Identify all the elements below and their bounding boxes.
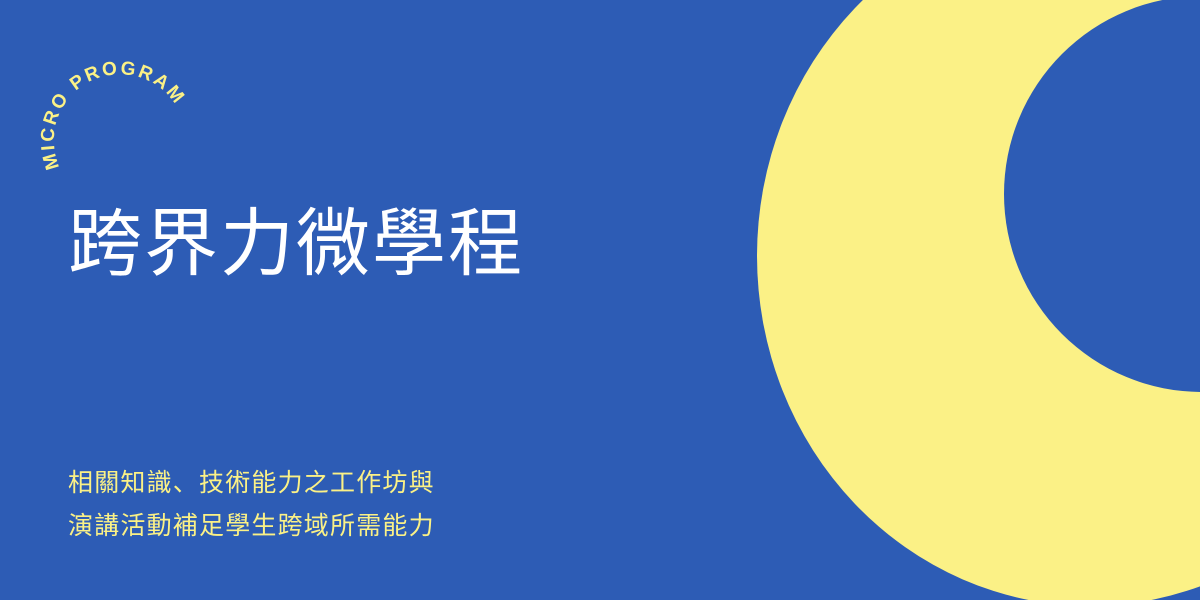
subtitle-line-2: 演講活動補足學生跨域所需能力 <box>68 505 435 548</box>
subtitle-block: 相關知識、技術能力之工作坊與 演講活動補足學生跨域所需能力 <box>68 462 435 548</box>
micro-program-badge: MICRO PROGRAM <box>38 44 206 196</box>
badge-circular-text: MICRO PROGRAM <box>37 58 189 172</box>
promo-banner: MICRO PROGRAM 跨界力微學程 相關知識、技術能力之工作坊與 演講活動… <box>0 0 1200 600</box>
page-title: 跨界力微學程 <box>68 204 524 284</box>
subtitle-line-1: 相關知識、技術能力之工作坊與 <box>68 462 435 505</box>
